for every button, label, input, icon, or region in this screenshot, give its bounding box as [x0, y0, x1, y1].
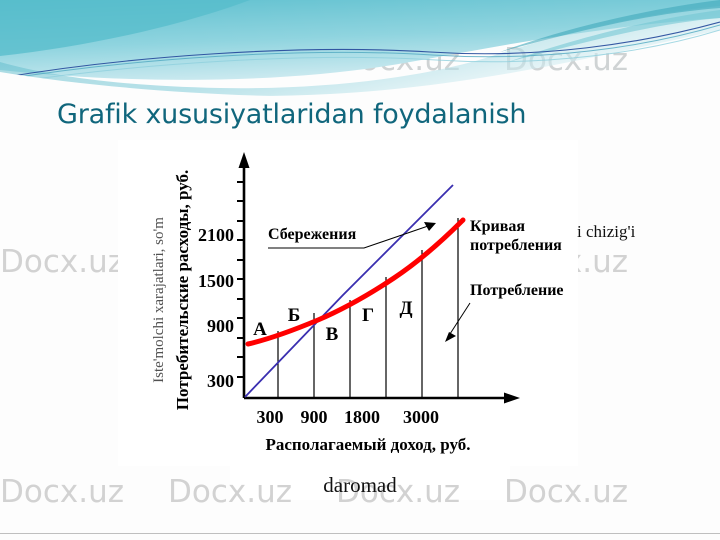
watermark-text: Docx.uz — [0, 244, 124, 280]
svg-text:потребления: потребления — [470, 237, 562, 254]
interval-label: Б — [288, 305, 301, 326]
interval-label: Д — [399, 298, 412, 319]
x-tick-label: 900 — [301, 407, 328, 427]
side-caption: i chizig'i — [577, 222, 635, 242]
interval-label: Г — [362, 305, 374, 326]
x-axis-title: Располагаемый доход, руб. — [265, 435, 470, 454]
interval-label: В — [326, 324, 339, 345]
slide-canvas: Docx.uz Docx.uz Docx.uz Docx.uz — [0, 0, 720, 540]
bottom-caption: daromad — [0, 473, 720, 498]
y-tick-label: 900 — [207, 316, 234, 336]
x-tick-label: 300 — [257, 407, 284, 427]
y-tick-label: 300 — [207, 371, 234, 391]
decorative-banner — [0, 0, 720, 105]
svg-text:Потребление: Потребление — [470, 282, 564, 299]
y-tick-label: 1500 — [198, 271, 234, 291]
y-tick-label: 2100 — [198, 225, 234, 245]
svg-text:Сбережения: Сбережения — [268, 226, 357, 243]
slide-bottom-rule — [0, 533, 720, 534]
x-tick-label: 1800 — [344, 407, 380, 427]
y-axis-title-secondary: Iste'molchi xarajatlari, so'm — [151, 217, 167, 383]
x-tick-label: 3000 — [403, 407, 439, 427]
interval-label: А — [253, 319, 267, 340]
y-axis-title: Потребительские расходы, руб. — [173, 170, 192, 410]
svg-text:Кривая: Кривая — [470, 218, 525, 235]
chart-image: 300 900 1500 2100 300 900 1800 3000 А Б … — [118, 140, 578, 466]
page-title: Grafik xususiyatlaridan foydalanish — [57, 99, 677, 130]
